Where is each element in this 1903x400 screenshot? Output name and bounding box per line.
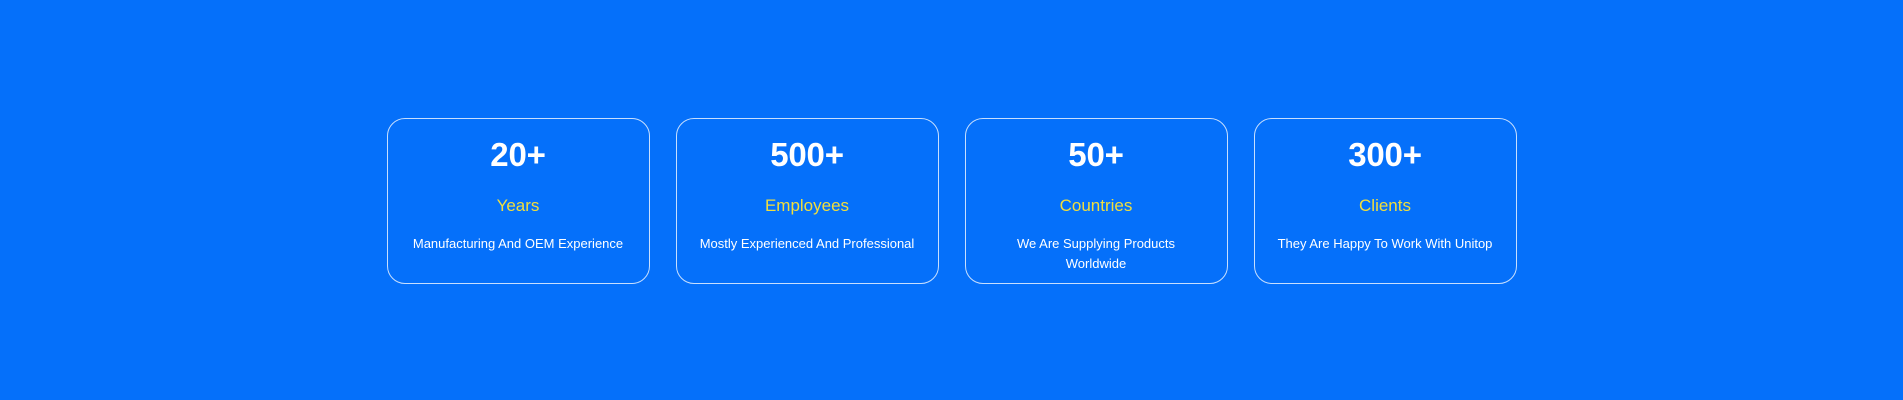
- stat-description: Manufacturing And OEM Experience: [413, 234, 623, 254]
- stat-card-years[interactable]: 20+ Years Manufacturing And OEM Experien…: [387, 118, 650, 284]
- stat-value: 50+: [1068, 137, 1123, 174]
- stat-card-countries[interactable]: 50+ Countries We Are Supplying Products …: [965, 118, 1228, 284]
- stat-value: 20+: [490, 137, 545, 174]
- stat-label: Countries: [1060, 196, 1133, 216]
- stat-label: Years: [497, 196, 540, 216]
- stat-label: Employees: [765, 196, 849, 216]
- stats-card-row: 20+ Years Manufacturing And OEM Experien…: [387, 118, 1517, 284]
- stat-value: 300+: [1348, 137, 1422, 174]
- stat-description: They Are Happy To Work With Unitop: [1278, 234, 1493, 254]
- stat-label: Clients: [1359, 196, 1411, 216]
- company-stats-section: 20+ Years Manufacturing And OEM Experien…: [0, 0, 1903, 400]
- stat-description: We Are Supplying Products Worldwide: [989, 234, 1204, 274]
- stat-value: 500+: [770, 137, 844, 174]
- stat-card-employees[interactable]: 500+ Employees Mostly Experienced And Pr…: [676, 118, 939, 284]
- stat-card-clients[interactable]: 300+ Clients They Are Happy To Work With…: [1254, 118, 1517, 284]
- stat-description: Mostly Experienced And Professional: [700, 234, 915, 254]
